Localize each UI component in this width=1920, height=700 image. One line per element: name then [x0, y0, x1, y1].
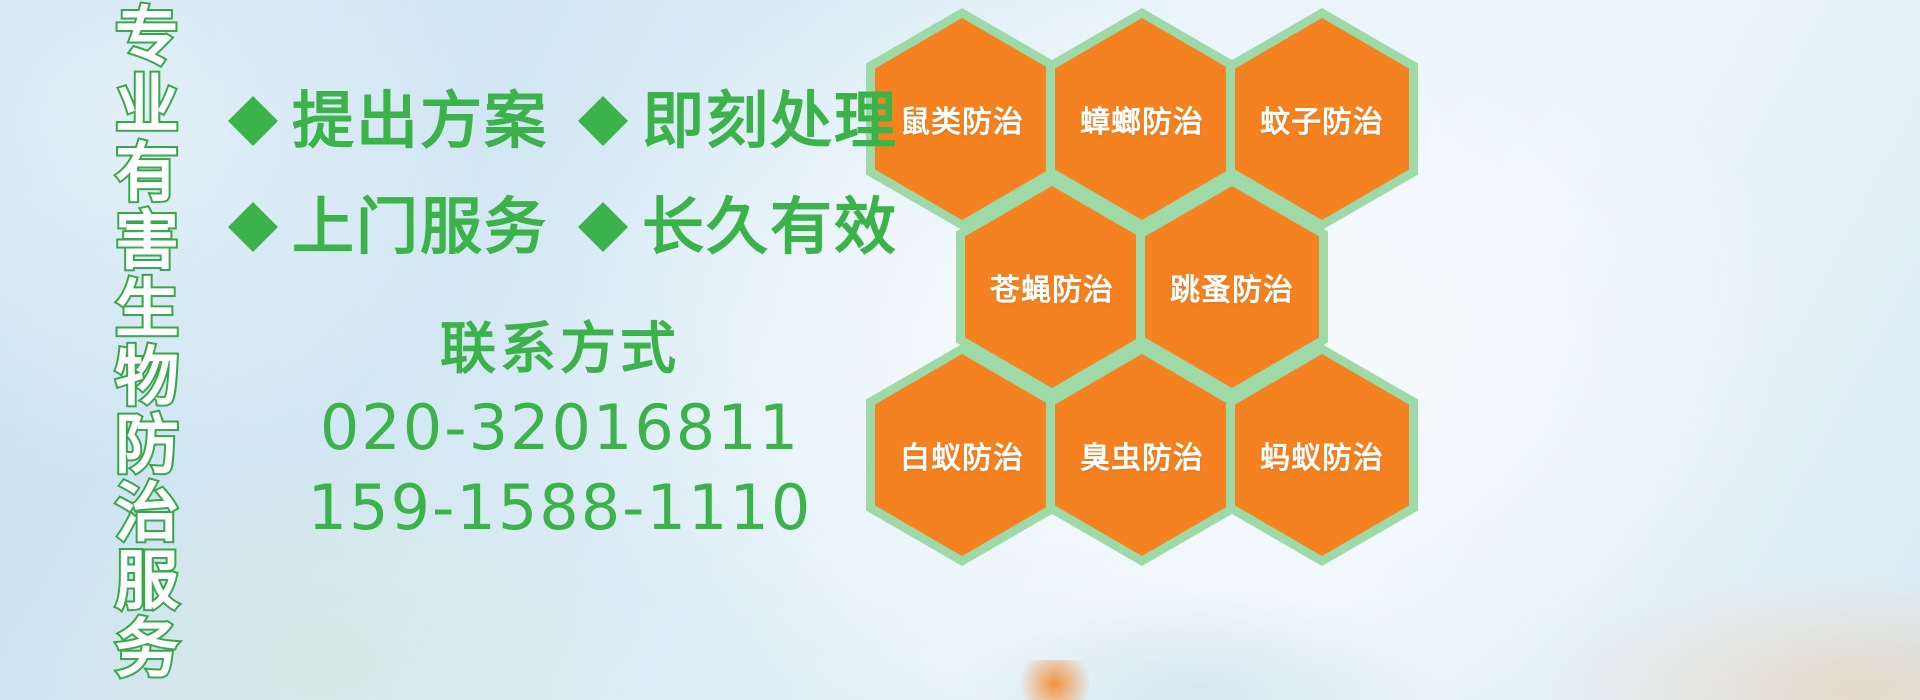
vertical-headline-char: 物: [115, 344, 179, 412]
pest-control-banner: 专 业 有 害 生 物 防 治 服 务 提出方案 即刻处理 上门服务 长久有效 …: [0, 0, 1920, 700]
diamond-bullet-icon: [228, 177, 278, 227]
contact-label: 联系方式: [300, 312, 820, 388]
phone-number-landline[interactable]: 020-32016811: [300, 388, 820, 468]
service-label: 蟑螂防治: [1080, 97, 1204, 141]
service-label: 跳蚤防治: [1170, 265, 1294, 309]
feature-label: 即刻处理: [642, 86, 898, 156]
diamond-bullet-icon: [228, 71, 278, 121]
vertical-headline-char: 治: [115, 480, 179, 548]
vertical-headline: 专 业 有 害 生 物 防 治 服 务: [104, 4, 190, 696]
diamond-bullet-icon: [578, 71, 628, 121]
phone-number-mobile[interactable]: 159-1588-1110: [300, 468, 820, 548]
service-label: 白蚁防治: [900, 433, 1024, 477]
vertical-headline-char: 防: [115, 412, 179, 480]
vertical-headline-char: 生: [115, 276, 179, 344]
feature-row-2: 上门服务 长久有效: [228, 192, 898, 262]
vertical-headline-char: 专: [115, 4, 179, 72]
service-label: 蚂蚁防治: [1260, 433, 1384, 477]
feature-label: 提出方案: [292, 86, 548, 156]
service-label: 臭虫防治: [1080, 433, 1204, 477]
vertical-headline-char: 害: [115, 208, 179, 276]
service-label: 蚊子防治: [1260, 97, 1384, 141]
service-honeycomb: 鼠类防治 蟑螂防治 蚊子防治 苍蝇防治 跳蚤防治 白蚁防治 臭虫防治 蚂蚁: [856, 0, 1456, 700]
vertical-headline-char: 服: [115, 548, 179, 616]
contact-block: 联系方式 020-32016811 159-1588-1110: [300, 312, 820, 548]
diamond-bullet-icon: [578, 177, 628, 227]
feature-label: 上门服务: [292, 192, 548, 262]
service-label: 苍蝇防治: [990, 265, 1114, 309]
feature-row-1: 提出方案 即刻处理: [228, 86, 898, 156]
vertical-headline-char: 业: [115, 72, 179, 140]
vertical-headline-char: 有: [115, 140, 179, 208]
feature-label: 长久有效: [642, 192, 898, 262]
vertical-headline-char: 务: [115, 616, 179, 684]
service-label: 鼠类防治: [900, 97, 1024, 141]
